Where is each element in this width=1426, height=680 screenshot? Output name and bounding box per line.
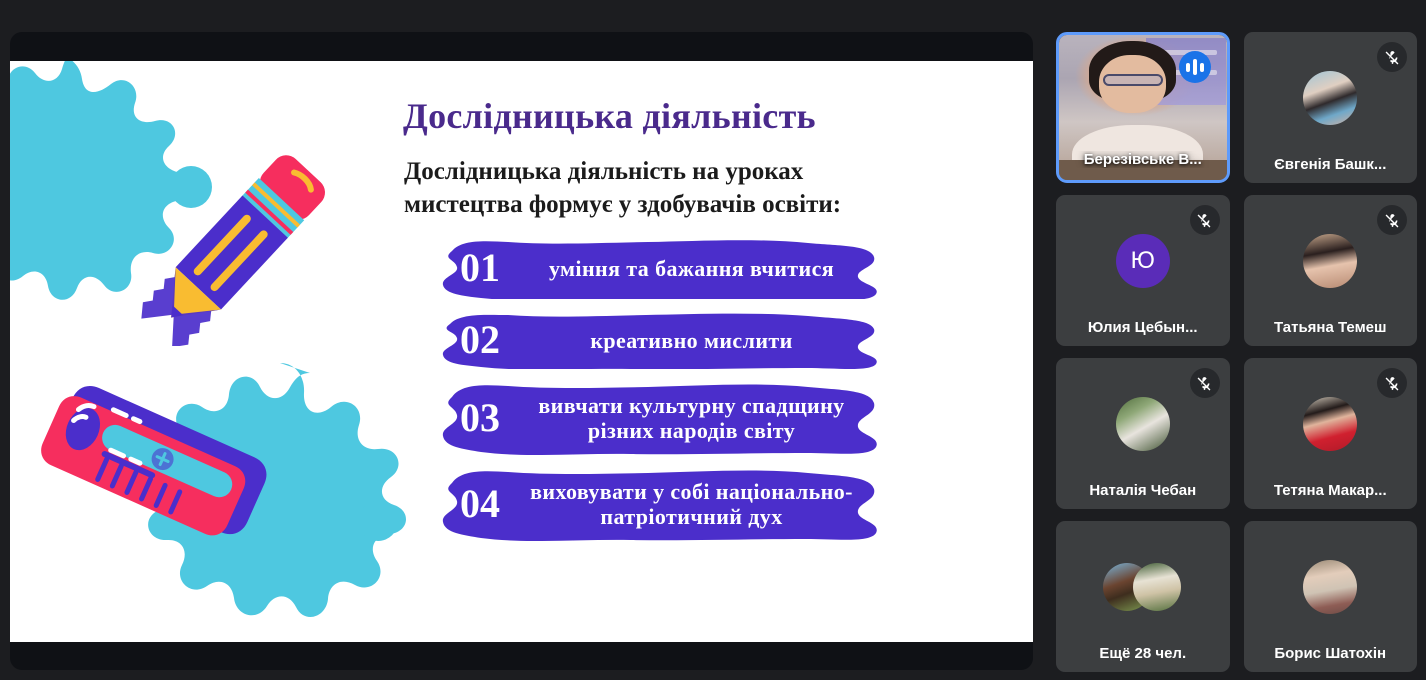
slide-subtitle: Дослідницька діяльність на уроках мистец… <box>404 155 924 221</box>
paint-dot-icon <box>170 166 212 208</box>
avatar <box>1303 560 1357 614</box>
participant-tile[interactable]: Татьяна Темеш <box>1244 195 1418 346</box>
more-participants-tile[interactable]: Ещё 28 чел. <box>1056 521 1230 672</box>
slide-banner-item: 04 виховувати у собі національно-патріот… <box>438 467 883 541</box>
participant-name: Тетяна Макар... <box>1250 482 1412 499</box>
participant-name: Борис Шатохін <box>1250 645 1412 662</box>
participant-name: Березівське В... <box>1065 151 1221 168</box>
slide-banner-list: 01 уміння та бажання вчитися 02 креативн… <box>438 237 883 553</box>
participant-rail: Березівське В... Євгенія Башк... Ю <box>1047 32 1426 680</box>
banner-text: вивчати культурну спадщину різних народі… <box>522 393 883 443</box>
paint-dot-small-icon <box>358 501 398 541</box>
banner-number: 03 <box>438 398 522 438</box>
pencil-illustration-icon <box>115 136 360 346</box>
participant-name: Юлия Цебын... <box>1062 319 1224 336</box>
video-conference-window: Дослідницька діяльність Дослідницька дія… <box>0 0 1426 680</box>
avatar <box>1116 397 1170 451</box>
banner-text: креативно мислити <box>522 328 883 353</box>
avatar <box>1303 234 1357 288</box>
microphone-muted-icon <box>1377 205 1407 235</box>
sharpener-illustration-icon <box>38 361 288 576</box>
participant-tile[interactable]: Борис Шатохін <box>1244 521 1418 672</box>
microphone-muted-icon <box>1377 42 1407 72</box>
microphone-muted-icon <box>1190 205 1220 235</box>
participant-name: Наталія Чебан <box>1062 482 1224 499</box>
microphone-muted-icon <box>1190 368 1220 398</box>
participant-name: Татьяна Темеш <box>1250 319 1412 336</box>
slide-banner-item: 02 креативно мислити <box>438 311 883 369</box>
banner-text: виховувати у собі національно-патріотичн… <box>522 479 883 529</box>
avatar <box>1303 397 1357 451</box>
avatar-initial: Ю <box>1116 234 1170 288</box>
presentation-slide: Дослідницька діяльність Дослідницька дія… <box>10 61 1033 642</box>
audio-wave-icon <box>1179 51 1211 83</box>
paint-splash-top-icon <box>10 61 272 383</box>
paint-splash-bottom-icon <box>115 359 445 642</box>
banner-number: 02 <box>438 320 522 360</box>
banner-number: 01 <box>438 248 522 288</box>
microphone-muted-icon <box>1377 368 1407 398</box>
avatar <box>1303 71 1357 125</box>
participant-tile[interactable]: Наталія Чебан <box>1056 358 1230 509</box>
slide-title: Дослідницька діяльність <box>403 95 1003 137</box>
participant-tile-active-speaker[interactable]: Березівське В... <box>1056 32 1230 183</box>
banner-number: 04 <box>438 484 522 524</box>
slide-banner-item: 01 уміння та бажання вчитися <box>438 237 883 299</box>
participant-name: Євгенія Башк... <box>1250 156 1412 173</box>
banner-text: уміння та бажання вчитися <box>522 256 883 281</box>
participant-tile[interactable]: Ю Юлия Цебын... <box>1056 195 1230 346</box>
participant-tile[interactable]: Тетяна Макар... <box>1244 358 1418 509</box>
avatar-group <box>1103 563 1183 611</box>
participant-tile[interactable]: Євгенія Башк... <box>1244 32 1418 183</box>
shared-screen-stage[interactable]: Дослідницька діяльність Дослідницька дія… <box>10 32 1033 670</box>
more-participants-label: Ещё 28 чел. <box>1062 645 1224 662</box>
slide-banner-item: 03 вивчати культурну спадщину різних нар… <box>438 381 883 455</box>
